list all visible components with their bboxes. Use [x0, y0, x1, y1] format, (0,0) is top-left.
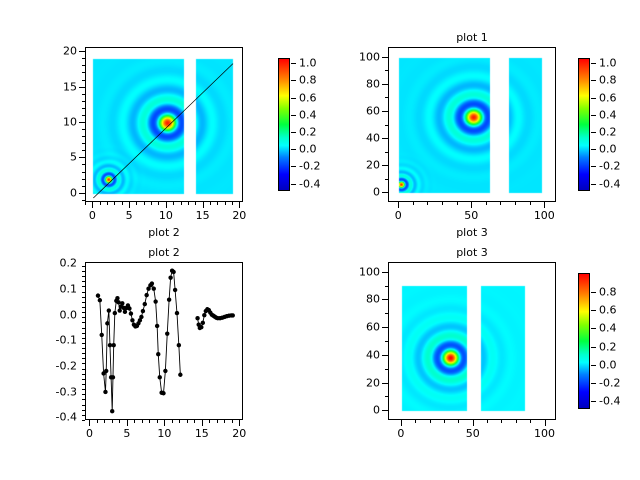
data-point-marker: [156, 352, 160, 356]
x-tick-label: 5: [123, 428, 130, 439]
x-tick-label: 50: [466, 428, 480, 439]
y-tick: [82, 108, 85, 109]
y-tick: [82, 374, 85, 375]
axes-frame: [85, 47, 243, 202]
y-tick-label: 0: [328, 187, 380, 198]
x-tick: [100, 202, 101, 205]
x-tick-label: 20: [232, 428, 246, 439]
colorbar-tick: [591, 132, 596, 133]
x-tick-label: 100: [534, 210, 555, 221]
y-tick: [82, 333, 85, 334]
y-tick: [382, 272, 388, 273]
y-tick-label: 100: [328, 51, 380, 62]
x-tick-label: 100: [534, 428, 555, 439]
y-tick: [82, 348, 85, 349]
y-tick: [82, 80, 85, 81]
data-point-marker: [202, 313, 206, 317]
y-tick: [382, 192, 388, 193]
y-tick: [382, 355, 388, 356]
x-tick: [104, 420, 105, 423]
y-tick: [82, 186, 85, 187]
colorbar-tick-label: 0.4: [599, 323, 617, 334]
y-tick: [82, 384, 85, 385]
colorbar-tick-label: 0.8: [599, 75, 617, 86]
y-tick-label: 10: [25, 117, 77, 128]
x-tick: [187, 420, 188, 423]
image-field: [389, 263, 556, 420]
y-tick-label: -0.2: [25, 361, 77, 372]
y-tick-label: 40: [328, 349, 380, 360]
y-tick: [82, 379, 85, 380]
x-tick: [398, 202, 399, 208]
x-tick: [158, 202, 159, 205]
x-tick: [232, 420, 233, 423]
y-tick: [385, 70, 388, 71]
colorbar-tick: [591, 347, 596, 348]
colorbar-tick: [591, 98, 596, 99]
y-tick-label: 20: [25, 46, 77, 57]
data-point-marker: [201, 321, 205, 325]
panel-title: plot 1: [388, 31, 556, 44]
y-tick-label: 15: [25, 81, 77, 92]
data-point-marker: [123, 310, 127, 314]
y-tick-label: 100: [328, 266, 380, 277]
y-tick: [82, 405, 85, 406]
y-tick-label: 5: [25, 152, 77, 163]
panel-bottom-right: plot 30501000204060801000.80.60.40.20.0-…: [388, 262, 556, 420]
y-tick: [82, 58, 85, 59]
data-point-marker: [171, 270, 175, 274]
x-tick: [224, 420, 225, 423]
y-tick: [385, 286, 388, 287]
y-tick: [82, 143, 85, 144]
y-tick: [82, 297, 85, 298]
x-tick: [217, 420, 218, 423]
y-tick: [82, 358, 85, 359]
data-point-marker: [110, 409, 114, 413]
x-tick-label: 0: [395, 210, 402, 221]
x-tick: [471, 202, 472, 208]
data-point-marker: [139, 315, 143, 319]
x-tick: [430, 420, 431, 423]
y-tick: [82, 72, 85, 73]
data-point-marker: [113, 311, 117, 315]
data-point-marker: [143, 302, 147, 306]
x-tick: [142, 420, 143, 423]
colorbar-tick-label: 0.2: [599, 126, 617, 137]
x-tick: [516, 420, 517, 423]
colorbar-tick: [291, 63, 296, 64]
colorbar: 1.00.80.60.40.20.0-0.2-0.4: [278, 58, 290, 191]
y-tick: [79, 122, 85, 123]
x-axis-label: plot 3: [388, 226, 556, 239]
y-tick: [82, 389, 85, 390]
y-tick: [82, 322, 85, 323]
x-tick: [149, 420, 150, 423]
colorbar-tick: [291, 115, 296, 116]
x-tick-label: 10: [157, 428, 171, 439]
y-tick: [79, 193, 85, 194]
y-tick: [82, 179, 85, 180]
colorbar-tick: [291, 184, 296, 185]
data-point-marker: [168, 275, 172, 279]
y-tick: [382, 383, 388, 384]
y-tick: [79, 87, 85, 88]
colorbar-tick: [591, 184, 596, 185]
colorbar-tick-label: -0.2: [599, 377, 620, 388]
y-tick: [82, 164, 85, 165]
y-tick-label: -0.4: [25, 412, 77, 423]
line-path: [98, 271, 180, 412]
data-point-marker: [115, 296, 119, 300]
data-point-marker: [158, 375, 162, 379]
data-point-marker: [178, 373, 182, 377]
y-tick: [82, 307, 85, 308]
data-point-marker: [105, 321, 109, 325]
panel-bottom-left: plot 205101520-0.4-0.3-0.2-0.10.00.10.2: [85, 262, 243, 420]
colorbar-tick: [591, 166, 596, 167]
data-point-marker: [195, 316, 199, 320]
y-tick: [382, 138, 388, 139]
colorbar-tick-label: -0.2: [599, 161, 620, 172]
colorbar-tick: [591, 80, 596, 81]
colorbar-tick: [291, 98, 296, 99]
x-tick: [114, 202, 115, 205]
colorbar-tick: [591, 401, 596, 402]
line-series-group: [86, 263, 243, 420]
data-point-marker: [129, 311, 133, 315]
y-tick: [382, 165, 388, 166]
x-tick: [544, 202, 545, 208]
x-tick: [239, 420, 240, 426]
y-tick-label: 0.2: [25, 258, 77, 269]
data-point-marker: [173, 288, 177, 292]
data-point-marker: [199, 325, 203, 329]
colorbar-tick-label: 0.2: [299, 126, 317, 137]
y-tick: [382, 111, 388, 112]
x-tick: [188, 202, 189, 205]
x-tick-label: 10: [159, 210, 173, 221]
y-tick: [82, 115, 85, 116]
x-tick: [166, 202, 167, 208]
colorbar-tick-label: 0.4: [599, 109, 617, 120]
x-tick: [172, 420, 173, 423]
x-tick-label: 0: [89, 210, 96, 221]
data-point-marker: [120, 301, 124, 305]
x-tick: [97, 420, 98, 423]
x-tick: [442, 202, 443, 205]
x-tick: [530, 202, 531, 205]
data-point-marker: [98, 298, 102, 302]
data-point-marker: [127, 306, 131, 310]
y-tick-label: 0.0: [25, 309, 77, 320]
y-tick-label: 20: [328, 160, 380, 171]
y-tick: [82, 420, 85, 421]
x-tick: [203, 202, 204, 208]
y-tick: [79, 51, 85, 52]
colorbar-gradient: [579, 274, 589, 408]
x-tick: [129, 202, 130, 208]
colorbar-tick-label: 0.4: [299, 109, 317, 120]
colorbar-tick: [591, 365, 596, 366]
x-tick: [500, 202, 501, 205]
data-point-marker: [112, 343, 116, 347]
x-tick: [92, 202, 93, 208]
x-tick: [157, 420, 158, 423]
colorbar-tick-label: -0.4: [299, 178, 320, 189]
x-tick: [202, 420, 203, 426]
x-tick: [232, 202, 233, 205]
x-tick-label: 50: [464, 210, 478, 221]
y-tick: [385, 396, 388, 397]
image-field: [389, 48, 556, 202]
data-point-marker: [152, 286, 156, 290]
data-point-marker: [116, 300, 120, 304]
y-tick: [385, 369, 388, 370]
panel-title: plot 2: [85, 246, 243, 259]
y-tick: [382, 410, 388, 411]
y-tick: [385, 97, 388, 98]
y-tick: [82, 399, 85, 400]
x-tick: [181, 202, 182, 205]
data-point-marker: [107, 308, 111, 312]
data-point-marker: [111, 375, 115, 379]
y-tick: [82, 394, 85, 395]
y-tick: [82, 266, 85, 267]
y-tick: [82, 65, 85, 66]
y-tick-label: 40: [328, 133, 380, 144]
data-point-marker: [100, 333, 104, 337]
x-tick: [515, 202, 516, 205]
x-tick: [119, 420, 120, 423]
x-tick: [112, 420, 113, 423]
y-tick-label: 0: [25, 187, 77, 198]
colorbar-tick-label: 0.6: [299, 92, 317, 103]
figure-canvas: 0510152005101520plot 21.00.80.60.40.20.0…: [0, 0, 640, 480]
y-tick: [82, 292, 85, 293]
data-point-marker: [153, 299, 157, 303]
x-tick: [151, 202, 152, 205]
data-point-marker: [167, 298, 171, 302]
x-tick: [239, 202, 240, 208]
data-point-marker: [103, 390, 107, 394]
x-tick: [217, 202, 218, 205]
y-tick: [385, 152, 388, 153]
y-tick: [82, 129, 85, 130]
y-tick: [82, 276, 85, 277]
data-point-marker: [130, 318, 134, 322]
colorbar-tick: [291, 80, 296, 81]
colorbar-tick-label: 0.0: [299, 144, 317, 155]
x-tick: [545, 420, 546, 426]
y-tick-label: 60: [328, 322, 380, 333]
y-tick: [82, 271, 85, 272]
colorbar-tick: [591, 383, 596, 384]
y-tick: [385, 313, 388, 314]
x-tick: [530, 420, 531, 423]
x-tick: [209, 420, 210, 423]
panel-title: plot 3: [388, 246, 556, 259]
data-point-marker: [175, 311, 179, 315]
panel-top-right: plot 1050100020406080100plot 31.00.80.60…: [388, 47, 556, 202]
y-tick: [382, 327, 388, 328]
colorbar-tick-label: 0.0: [599, 359, 617, 370]
x-axis-label: plot 2: [85, 226, 243, 239]
x-tick: [444, 420, 445, 423]
colorbar-gradient: [279, 59, 289, 190]
colorbar: 0.80.60.40.20.0-0.2-0.4: [578, 273, 590, 409]
x-tick: [85, 202, 86, 205]
y-tick-label: 0.1: [25, 283, 77, 294]
x-tick: [194, 420, 195, 423]
y-tick: [82, 369, 85, 370]
data-point-marker: [231, 313, 235, 317]
data-point-marker: [165, 331, 169, 335]
x-tick: [427, 202, 428, 205]
colorbar-tick-label: 0.6: [599, 92, 617, 103]
y-tick: [385, 179, 388, 180]
data-point-marker: [108, 343, 112, 347]
y-tick: [82, 101, 85, 102]
colorbar-tick: [591, 292, 596, 293]
y-tick: [82, 338, 85, 339]
y-tick-label: -0.1: [25, 335, 77, 346]
colorbar-gradient: [579, 59, 589, 190]
data-point-marker: [177, 343, 181, 347]
y-tick: [82, 343, 85, 344]
diagonal-line: [86, 48, 243, 202]
data-point-marker: [163, 369, 167, 373]
y-tick: [82, 150, 85, 151]
y-tick-label: 20: [328, 377, 380, 388]
x-tick: [415, 420, 416, 423]
x-tick: [107, 202, 108, 205]
x-tick: [127, 420, 128, 426]
y-tick: [385, 125, 388, 126]
y-tick-label: -0.3: [25, 386, 77, 397]
x-tick: [501, 420, 502, 423]
x-tick-label: 20: [232, 210, 246, 221]
data-point-marker: [144, 293, 148, 297]
y-tick-label: 80: [328, 294, 380, 305]
colorbar-tick-label: 0.6: [599, 305, 617, 316]
x-tick: [89, 420, 90, 426]
colorbar: 1.00.80.60.40.20.0-0.2-0.4: [578, 58, 590, 191]
x-tick: [136, 202, 137, 205]
y-tick: [82, 94, 85, 95]
x-tick: [173, 202, 174, 205]
x-tick: [179, 420, 180, 423]
y-tick: [82, 200, 85, 201]
data-point-marker: [117, 308, 121, 312]
y-tick: [382, 57, 388, 58]
y-tick: [79, 157, 85, 158]
data-point-marker: [96, 293, 100, 297]
colorbar-tick: [591, 63, 596, 64]
y-tick: [82, 286, 85, 287]
x-tick-label: 0: [397, 428, 404, 439]
data-point-marker: [161, 391, 165, 395]
colorbar-tick-label: -0.4: [599, 395, 620, 406]
x-tick: [487, 420, 488, 423]
x-tick: [457, 202, 458, 205]
y-tick: [82, 312, 85, 313]
axes-frame: [388, 47, 556, 202]
y-tick: [82, 353, 85, 354]
x-tick-label: 0: [86, 428, 93, 439]
colorbar-tick: [291, 166, 296, 167]
x-tick-label: 5: [126, 210, 133, 221]
colorbar-tick: [591, 328, 596, 329]
data-point-marker: [104, 369, 108, 373]
x-tick-label: 15: [195, 428, 209, 439]
x-tick-label: 15: [196, 210, 210, 221]
data-point-marker: [155, 324, 159, 328]
colorbar-tick-label: 0.8: [599, 287, 617, 298]
colorbar-tick-label: -0.4: [599, 178, 620, 189]
colorbar-tick: [291, 132, 296, 133]
data-point-marker: [141, 309, 145, 313]
y-tick-label: 0: [328, 405, 380, 416]
colorbar-tick: [291, 149, 296, 150]
colorbar-tick-label: -0.2: [299, 161, 320, 172]
colorbar-tick: [591, 310, 596, 311]
colorbar-tick: [591, 149, 596, 150]
y-tick: [82, 415, 85, 416]
x-tick: [473, 420, 474, 426]
x-tick: [164, 420, 165, 426]
axes-frame: [388, 262, 556, 420]
y-tick-label: 60: [328, 105, 380, 116]
colorbar-tick-label: 0.8: [299, 75, 317, 86]
y-tick: [82, 172, 85, 173]
x-tick: [210, 202, 211, 205]
axes-frame: [85, 262, 243, 420]
y-tick: [82, 281, 85, 282]
colorbar-tick-label: 1.0: [299, 58, 317, 69]
y-tick: [382, 84, 388, 85]
x-tick: [195, 202, 196, 205]
x-tick: [134, 420, 135, 423]
panel-top-left: 0510152005101520plot 21.00.80.60.40.20.0…: [85, 47, 243, 202]
x-tick: [122, 202, 123, 205]
x-tick: [458, 420, 459, 423]
colorbar-tick-label: 0.0: [599, 144, 617, 155]
colorbar-tick-label: 0.2: [599, 341, 617, 352]
y-tick: [82, 328, 85, 329]
y-tick-label: 80: [328, 78, 380, 89]
y-tick: [82, 302, 85, 303]
x-tick: [144, 202, 145, 205]
x-tick: [225, 202, 226, 205]
y-tick: [82, 136, 85, 137]
y-tick: [382, 299, 388, 300]
y-tick: [82, 363, 85, 364]
y-tick: [82, 410, 85, 411]
colorbar-tick-label: 1.0: [599, 58, 617, 69]
x-tick: [401, 420, 402, 426]
y-tick: [385, 341, 388, 342]
y-tick: [82, 317, 85, 318]
x-tick: [413, 202, 414, 205]
x-tick: [486, 202, 487, 205]
colorbar-tick: [591, 115, 596, 116]
data-point-marker: [150, 281, 154, 285]
